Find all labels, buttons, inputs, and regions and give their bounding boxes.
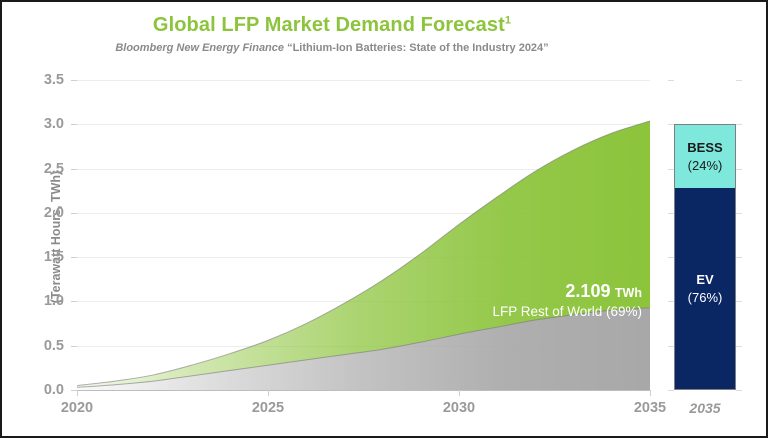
x-tick-label: 2030 [419,400,499,416]
chart-subtitle-document: “Lithium-Ion Batteries: State of the Ind… [287,42,549,54]
bar-gridline-tick [736,346,742,347]
bar-gridline-tick [668,257,674,258]
bar-gridline-tick [668,346,674,347]
bar-gridline-tick [668,213,674,214]
data-label-china-value: 0.928 [565,401,610,421]
data-label-china-name: LFP China (31%) [539,423,642,438]
bar-gridline-tick [736,124,742,125]
data-label-lfp-rest-of-world: 2.109 TWh LFP Rest of World (69%) [492,280,642,321]
bar-gridline-tick [736,301,742,302]
y-tick-label: 0.0 [4,382,64,398]
bar-segment-ev: EV (76%) [675,188,735,389]
x-tick-label: 2025 [228,400,308,416]
chart-title: Global LFP Market Demand Forecast1 [2,14,662,37]
x-tick-mark [459,390,460,396]
x-axis-line [77,390,650,391]
bar-gridline-tick [668,80,674,81]
bar-gridline-tick [736,169,742,170]
bar-gridline-tick [736,257,742,258]
x-tick-mark [268,390,269,396]
y-tick-label: 3.0 [4,116,64,132]
chart-title-text: Global LFP Market Demand Forecast [153,14,505,36]
stacked-bar-2035: BESS (24%) EV (76%) [674,124,736,390]
chart-title-footnote-marker: 1 [505,14,511,26]
data-label-row-unit: TWh [615,286,642,300]
bar-segment-bess-pct: (24%) [688,157,723,175]
bar-gridline-tick [668,390,674,391]
bar-gridline-tick [736,213,742,214]
plot-area: 2.109 TWh LFP Rest of World (69%) 0.928 … [77,80,650,390]
chart-figure: Global LFP Market Demand Forecast1 Bloom… [0,0,768,438]
y-tick-label: 3.5 [4,72,64,88]
chart-subtitle-source: Bloomberg New Energy Finance [115,42,284,54]
y-tick-label: 1.0 [4,293,64,309]
y-tick-label: 0.5 [4,338,64,354]
bar-segment-bess-name: BESS [687,139,722,157]
bar-gridline-tick [668,124,674,125]
y-tick-label: 2.0 [4,205,64,221]
y-tick-label: 2.5 [4,161,64,177]
x-tick-mark [650,390,651,396]
stacked-bar-axis-label: 2035 [664,400,746,416]
bar-segment-ev-pct: (76%) [688,289,723,307]
bar-gridline-tick [736,390,742,391]
bar-gridline-tick [736,80,742,81]
bar-gridline-tick [668,301,674,302]
data-label-row-value: 2.109 [565,281,610,301]
bar-gridline-tick [668,169,674,170]
x-tick-label: 2020 [37,400,117,416]
y-tick-label: 1.5 [4,249,64,265]
x-tick-mark [77,390,78,396]
chart-subtitle: Bloomberg New Energy Finance “Lithium-Io… [2,42,662,54]
data-label-row-name: LFP Rest of World (69%) [492,303,642,320]
area-series-svg [77,80,650,390]
bar-segment-ev-name: EV [696,271,713,289]
bar-segment-bess: BESS (24%) [675,125,735,188]
